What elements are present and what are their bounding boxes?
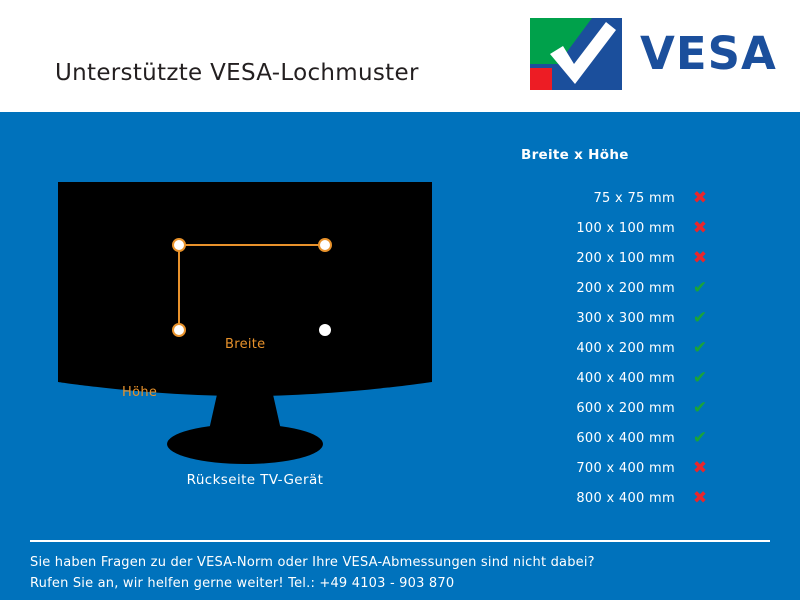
vesa-size-label: 200 x 200 mm: [495, 281, 675, 296]
table-row: 300 x 300 mm✔: [495, 303, 755, 333]
vesa-size-label: 800 x 400 mm: [495, 491, 675, 506]
unsupported-cross-icon: ✖: [675, 190, 725, 207]
label-hoehe: Höhe: [122, 385, 157, 400]
vesa-size-label: 300 x 300 mm: [495, 311, 675, 326]
vesa-logo: VESA: [530, 18, 770, 90]
page-header: Unterstützte VESA-Lochmuster VESA: [0, 0, 800, 112]
vesa-size-label: 600 x 200 mm: [495, 401, 675, 416]
unsupported-cross-icon: ✖: [675, 460, 725, 477]
table-row: 400 x 400 mm✔: [495, 363, 755, 393]
tv-diagram: Breite Höhe Rückseite TV-Gerät: [40, 182, 470, 562]
supported-check-icon: ✔: [675, 280, 725, 297]
vesa-size-label: 700 x 400 mm: [495, 461, 675, 476]
vesa-logo-text: VESA: [640, 26, 777, 82]
main-content: Breite Höhe Rückseite TV-Gerät Breite x …: [0, 112, 800, 600]
vesa-size-label: 75 x 75 mm: [495, 191, 675, 206]
table-row: 100 x 100 mm✖: [495, 213, 755, 243]
tv-illustration: [40, 182, 470, 482]
footer-contact: Sie haben Fragen zu der VESA-Norm oder I…: [30, 552, 770, 594]
table-row: 200 x 200 mm✔: [495, 273, 755, 303]
supported-check-icon: ✔: [675, 370, 725, 387]
vesa-size-label: 200 x 100 mm: [495, 251, 675, 266]
page-root: Unterstützte VESA-Lochmuster VESA: [0, 0, 800, 600]
table-row: 600 x 200 mm✔: [495, 393, 755, 423]
vesa-size-label: 400 x 400 mm: [495, 371, 675, 386]
vesa-checkmark-icon: [530, 18, 622, 90]
footer-divider: [30, 540, 770, 542]
vesa-size-label: 400 x 200 mm: [495, 341, 675, 356]
table-row: 700 x 400 mm✖: [495, 453, 755, 483]
table-body: 75 x 75 mm✖100 x 100 mm✖200 x 100 mm✖200…: [495, 183, 755, 513]
unsupported-cross-icon: ✖: [675, 220, 725, 237]
supported-check-icon: ✔: [675, 430, 725, 447]
table-header: Breite x Höhe: [495, 147, 755, 163]
vesa-support-table: Breite x Höhe 75 x 75 mm✖100 x 100 mm✖20…: [495, 147, 755, 513]
table-row: 400 x 200 mm✔: [495, 333, 755, 363]
table-row: 75 x 75 mm✖: [495, 183, 755, 213]
label-breite: Breite: [225, 337, 265, 352]
supported-check-icon: ✔: [675, 400, 725, 417]
page-title: Unterstützte VESA-Lochmuster: [55, 60, 419, 86]
footer-line-2: Rufen Sie an, wir helfen gerne weiter! T…: [30, 573, 770, 594]
unsupported-cross-icon: ✖: [675, 490, 725, 507]
table-row: 600 x 400 mm✔: [495, 423, 755, 453]
vesa-size-label: 600 x 400 mm: [495, 431, 675, 446]
supported-check-icon: ✔: [675, 310, 725, 327]
vesa-size-label: 100 x 100 mm: [495, 221, 675, 236]
table-row: 200 x 100 mm✖: [495, 243, 755, 273]
unsupported-cross-icon: ✖: [675, 250, 725, 267]
footer-line-1: Sie haben Fragen zu der VESA-Norm oder I…: [30, 552, 770, 573]
supported-check-icon: ✔: [675, 340, 725, 357]
tv-caption: Rückseite TV-Gerät: [40, 472, 470, 488]
table-row: 800 x 400 mm✖: [495, 483, 755, 513]
